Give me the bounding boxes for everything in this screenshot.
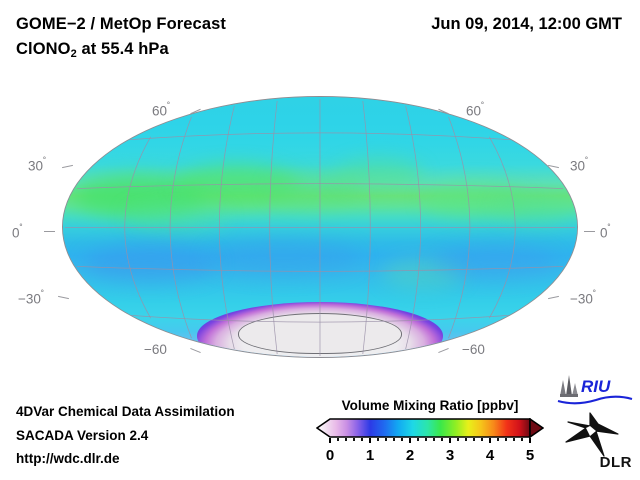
degree-symbol: ˚ xyxy=(20,224,23,235)
riu-logo: RIU xyxy=(556,374,634,406)
colorbar-left-body xyxy=(317,419,530,437)
degree-symbol: ˚ xyxy=(608,224,611,235)
forecast-map-page: GOME−2 / MetOp Forecast ClONO2 at 55.4 h… xyxy=(0,0,640,480)
colorbar-major-tick xyxy=(529,438,530,443)
colorbar-gradient xyxy=(316,418,544,438)
colorbar-minor-tick xyxy=(401,438,402,441)
lat-label-30n-left: 30˚ xyxy=(28,157,46,174)
lat-label-0-right: 0˚ xyxy=(600,224,611,241)
colorbar-major-tick xyxy=(409,438,410,443)
lat-label-30s-right: −30˚ xyxy=(570,290,596,307)
colorbar-major-tick xyxy=(449,438,450,443)
degree-symbol: ˚ xyxy=(41,290,44,301)
riu-wave-icon xyxy=(558,397,632,404)
colorbar-major-tick xyxy=(369,438,370,443)
colorbar-tick-label: 3 xyxy=(446,447,454,464)
colorbar-tick-label: 5 xyxy=(526,447,534,464)
species-name: ClONO xyxy=(16,40,71,58)
title-line-species: ClONO2 at 55.4 hPa xyxy=(16,37,226,64)
lat-label-0-left: 0˚ xyxy=(12,224,23,241)
lat-value: 30 xyxy=(28,159,43,174)
graticule-overlay xyxy=(63,97,577,358)
colorbar-minor-tick xyxy=(345,438,346,441)
footer-info: 4DVar Chemical Data Assimilation SACADA … xyxy=(16,400,235,471)
colorbar-minor-tick xyxy=(417,438,418,441)
lat-value: 60 xyxy=(152,104,167,119)
lat-value: 60 xyxy=(466,104,481,119)
footer-version: SACADA Version 2.4 xyxy=(16,424,235,448)
footer-method: 4DVar Chemical Data Assimilation xyxy=(16,400,235,424)
globe-container xyxy=(62,96,578,358)
map-projection-ellipse xyxy=(62,96,578,358)
colorbar-minor-tick xyxy=(465,438,466,441)
lat-value: 0 xyxy=(600,226,608,241)
lat-value: −30 xyxy=(18,292,41,307)
riu-wordmark: RIU xyxy=(581,377,611,396)
footer-url[interactable]: http://wdc.dlr.de xyxy=(16,447,235,471)
dlr-mark-icon xyxy=(560,412,634,458)
species-subscript: 2 xyxy=(71,48,77,60)
lat-label-30n-right: 30˚ xyxy=(570,157,588,174)
colorbar-tick-label: 1 xyxy=(366,447,374,464)
colorbar-minor-tick xyxy=(433,438,434,441)
species-level: at 55.4 hPa xyxy=(77,40,169,58)
colorbar-swatch xyxy=(316,418,544,438)
lat-label-60n-left: 60˚ xyxy=(152,102,170,119)
lat-label-60s-left: −60 xyxy=(144,342,167,357)
lat-tick xyxy=(584,231,595,232)
map-panel: 60˚ 30˚ 0˚ −30˚ −60 60˚ 30˚ 0˚ −30˚ −60 xyxy=(0,78,640,378)
colorbar: Volume Mixing Ratio [ppbv] 012345 xyxy=(316,398,544,467)
lat-value: −30 xyxy=(570,292,593,307)
colorbar-minor-tick xyxy=(505,438,506,441)
colorbar-minor-tick xyxy=(457,438,458,441)
degree-symbol: ˚ xyxy=(593,290,596,301)
colorbar-minor-tick xyxy=(425,438,426,441)
colorbar-tick-label: 2 xyxy=(406,447,414,464)
colorbar-minor-tick xyxy=(353,438,354,441)
colorbar-minor-tick xyxy=(441,438,442,441)
colorbar-minor-tick xyxy=(497,438,498,441)
lat-value: −60 xyxy=(462,342,485,357)
degree-symbol: ˚ xyxy=(585,157,588,168)
colorbar-minor-tick xyxy=(513,438,514,441)
colorbar-title: Volume Mixing Ratio [ppbv] xyxy=(316,398,544,413)
colorbar-minor-tick xyxy=(393,438,394,441)
colorbar-tick-labels: 012345 xyxy=(316,447,544,467)
colorbar-minor-tick xyxy=(377,438,378,441)
colorbar-minor-tick xyxy=(473,438,474,441)
lat-value: −60 xyxy=(144,342,167,357)
colorbar-tick-label: 0 xyxy=(326,447,334,464)
riu-spikes-icon xyxy=(560,375,578,397)
lat-value: 30 xyxy=(570,159,585,174)
page-title: GOME−2 / MetOp Forecast ClONO2 at 55.4 h… xyxy=(16,12,226,64)
degree-symbol: ˚ xyxy=(43,157,46,168)
lat-label-60s-right: −60 xyxy=(462,342,485,357)
degree-symbol: ˚ xyxy=(167,102,170,113)
dlr-wordmark: DLR xyxy=(600,454,632,471)
colorbar-major-tick xyxy=(489,438,490,443)
colorbar-minor-tick xyxy=(521,438,522,441)
lat-label-30s-left: −30˚ xyxy=(18,290,44,307)
title-line-instrument: GOME−2 / MetOp Forecast xyxy=(16,12,226,37)
colorbar-minor-tick xyxy=(361,438,362,441)
colorbar-minor-tick xyxy=(481,438,482,441)
colorbar-minor-tick xyxy=(337,438,338,441)
degree-symbol: ˚ xyxy=(481,102,484,113)
forecast-timestamp: Jun 09, 2014, 12:00 GMT xyxy=(431,12,622,37)
colorbar-tick-label: 4 xyxy=(486,447,494,464)
colorbar-major-tick xyxy=(329,438,330,443)
dlr-logo: DLR xyxy=(560,412,634,470)
lat-tick xyxy=(44,231,55,232)
colorbar-max-arrow xyxy=(530,419,543,437)
lat-label-60n-right: 60˚ xyxy=(466,102,484,119)
colorbar-minor-tick xyxy=(385,438,386,441)
lat-value: 0 xyxy=(12,226,20,241)
colorbar-ticks xyxy=(316,438,544,446)
